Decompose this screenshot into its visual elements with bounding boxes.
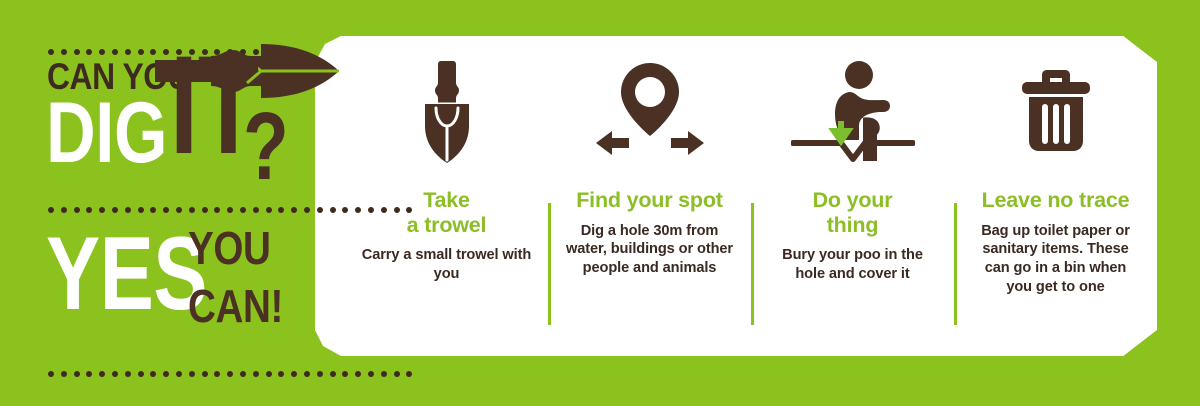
headline-can: CAN! [188,288,283,326]
step-column-leave-no-trace: Leave no trace Bag up toilet paper or sa… [954,36,1157,356]
step-body: Carry a small trowel with you [345,246,548,284]
step-title-line2: a trowel [407,213,487,237]
headline-dig: DIG [46,98,167,169]
headline-block: CAN YOU IT DIG ? YES YOU CAN! [0,0,340,406]
headline-question-mark: ? [243,108,288,187]
step-body: Bury your poo in the hole and cover it [751,246,954,284]
dotted-divider-bottom [48,370,412,377]
step-body: Bag up toilet paper or sanitary items. T… [954,222,1157,298]
step-title-line1: Take [423,188,470,212]
step-column-find-your-spot: Find your spot Dig a hole 30m from water… [548,36,751,356]
step-icon-wrap [414,36,480,186]
step-title: Leave no trace [976,188,1136,213]
step-body: Dig a hole 30m from water, buildings or … [548,222,751,279]
step-title-line1: Find your spot [576,188,723,212]
step-icon-wrap [594,36,706,186]
headline-you: YOU [188,230,270,268]
step-title: Do your thing [807,188,899,237]
trowel-icon [414,59,480,163]
step-column-do-your-thing: Do your thing Bury your poo in the hole … [751,36,954,356]
step-icon-wrap [791,36,915,186]
squatting-person-hole-icon [791,59,915,163]
step-title-line1: Do your [813,188,893,212]
step-icon-wrap [1020,36,1092,186]
infographic-poster: CAN YOU IT DIG ? YES YOU CAN! [0,0,1200,406]
headline-yes: YES [46,232,207,317]
step-title-line2: thing [827,213,879,237]
step-title-line1: Leave no trace [982,188,1130,212]
step-column-take-a-trowel: Take a trowel Carry a small trowel with … [345,36,548,356]
step-title: Find your spot [570,188,729,213]
steps-container: Take a trowel Carry a small trowel with … [345,36,1157,356]
trash-bin-icon [1020,68,1092,154]
location-pin-spacing-icon [594,61,706,161]
step-title: Take a trowel [401,188,493,237]
